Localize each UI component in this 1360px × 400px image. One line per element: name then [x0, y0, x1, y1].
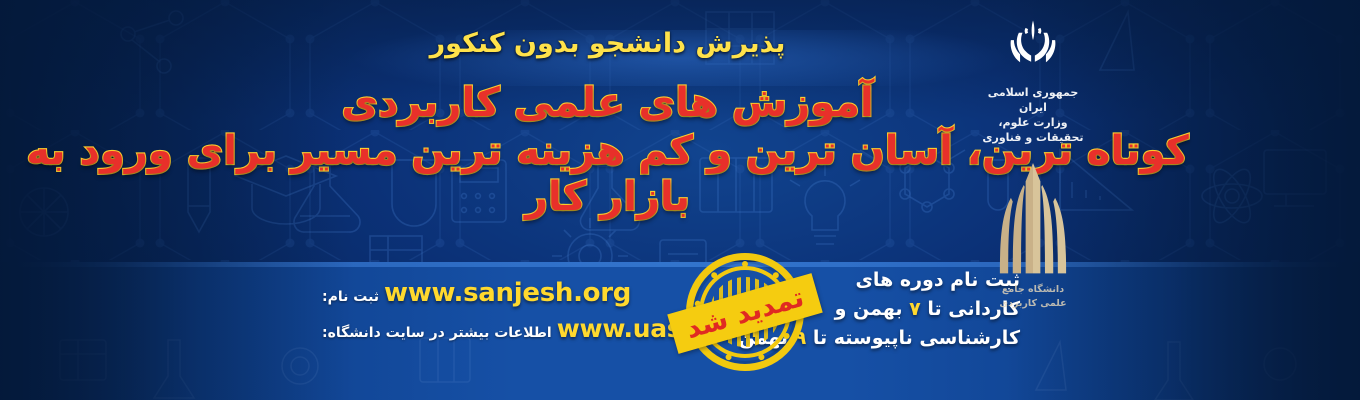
deadline-line-2-number: ۷ [909, 298, 921, 320]
extended-stamp: تمدید شد [686, 253, 804, 371]
top-headline: پذیرش دانشجو بدون کنکور [0, 28, 1360, 59]
deadline-line-2-suffix: بهمن و [835, 298, 903, 320]
banner-content: پذیرش دانشجو بدون کنکور آموزش های علمی ک… [0, 0, 1360, 400]
contact-block: www.sanjesh.org ثبت نام: www.uast.ac.ir … [322, 278, 622, 349]
iran-emblem-icon [1002, 18, 1064, 82]
uast-pen-logo-icon [987, 161, 1079, 279]
info-row: www.uast.ac.ir اطلاعات بیشتر در سایت دان… [322, 314, 622, 343]
emblem-subcaption: وزارت علوم، تحقیقات و فناوری [974, 116, 1092, 146]
main-headline-line-1: آموزش های علمی کاربردی [0, 80, 1360, 126]
promotional-banner: پذیرش دانشجو بدون کنکور آموزش های علمی ک… [0, 0, 1360, 400]
deadline-line-3-prefix: کارشناسی ناپیوسته تا [813, 327, 1020, 349]
main-headline-line-2: کوتاه ترین، آسان ترین و کم هزینه ترین مس… [0, 128, 1360, 220]
uast-caption-line-2: علمی کاربردی [974, 297, 1092, 310]
logo-column: جمهوری اسلامی ایران وزارت علوم، تحقیقات … [974, 10, 1092, 310]
sanjesh-url[interactable]: www.sanjesh.org [384, 278, 631, 308]
register-row: www.sanjesh.org ثبت نام: [322, 278, 622, 308]
emblem-caption: جمهوری اسلامی ایران [974, 86, 1092, 116]
info-label: اطلاعات بیشتر در سایت دانشگاه: [322, 325, 552, 341]
uast-caption-line-1: دانشگاه جامع [974, 283, 1092, 296]
register-label: ثبت نام: [322, 289, 379, 305]
